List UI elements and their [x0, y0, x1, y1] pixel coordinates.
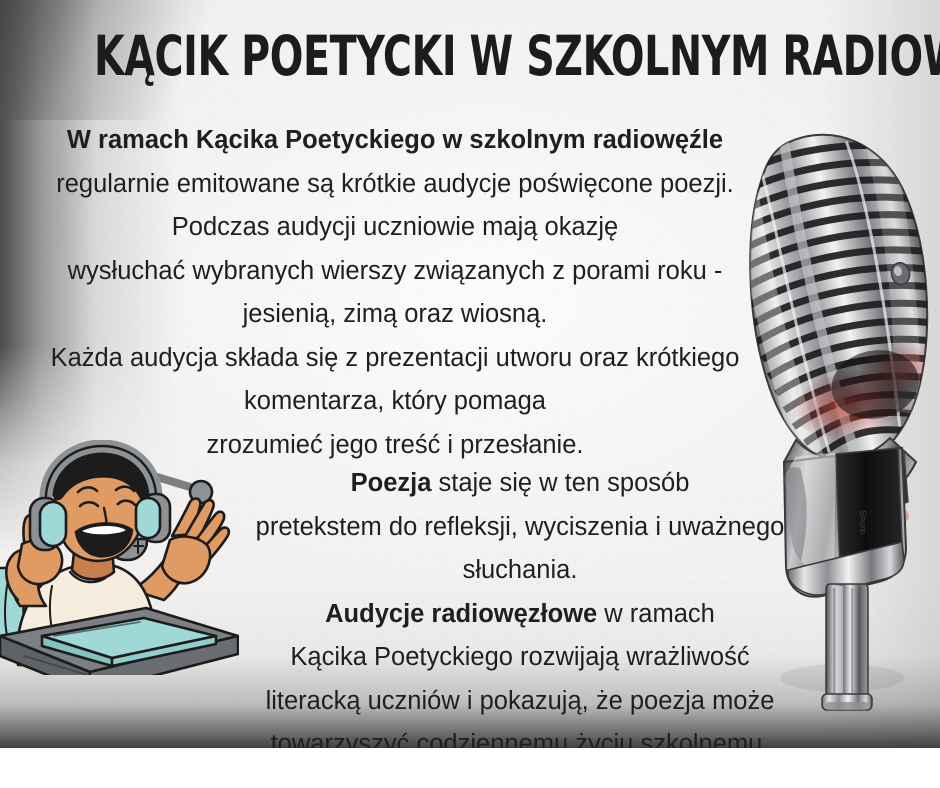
closing-line-7: towarzyszyć codziennemu życiu szkolnemu.	[200, 723, 840, 748]
poezja-emphasis: Poezja	[351, 469, 432, 497]
svg-text:Shure: Shure	[858, 510, 868, 534]
closing-line-5: Kącika Poetyckiego rozwijają wrażliwość	[200, 636, 840, 680]
poster-canvas: Shure KĄCIK POETYCKI W SZKOLNYM	[0, 0, 940, 748]
intro-line-8: zrozumieć jego treść i przesłanie.	[0, 424, 790, 468]
intro-line-3: Podczas audycji uczniowie mają okazję	[0, 206, 790, 250]
intro-line-2: regularnie emitowane są krótkie audycje …	[0, 163, 790, 207]
closing-line-4-rest: w ramach	[597, 600, 715, 628]
intro-line-7: komentarza, który pomaga	[0, 380, 790, 424]
page-title: KĄCIK POETYCKI W SZKOLNYM RADIOWĘŹLE	[94, 27, 846, 85]
audycje-emphasis: Audycje radiowęzłowe	[325, 600, 597, 628]
closing-line-1: Poezja staje się w ten sposób	[200, 462, 840, 506]
intro-line-5: jesienią, zimą oraz wiosną.	[0, 293, 790, 337]
closing-line-6: literacką uczniów i pokazują, że poezja …	[200, 680, 840, 724]
closing-paragraph: Poezja staje się w ten sposób pretekstem…	[200, 462, 840, 748]
closing-line-1-rest: staje się w ten sposób	[431, 469, 689, 497]
closing-line-2: pretekstem do refleksji, wyciszenia i uw…	[200, 506, 840, 550]
intro-paragraph: W ramach Kącika Poetyckiego w szkolnym r…	[0, 119, 790, 467]
intro-line-4: wysłuchać wybranych wierszy związanych z…	[0, 250, 790, 294]
intro-line-1: W ramach Kącika Poetyckiego w szkolnym r…	[0, 119, 790, 163]
white-margin-strip	[0, 748, 940, 788]
closing-line-3: słuchania.	[200, 549, 840, 593]
intro-line-6: Każda audycja składa się z prezentacji u…	[0, 337, 790, 381]
closing-line-4: Audycje radiowęzłowe w ramach	[200, 593, 840, 637]
